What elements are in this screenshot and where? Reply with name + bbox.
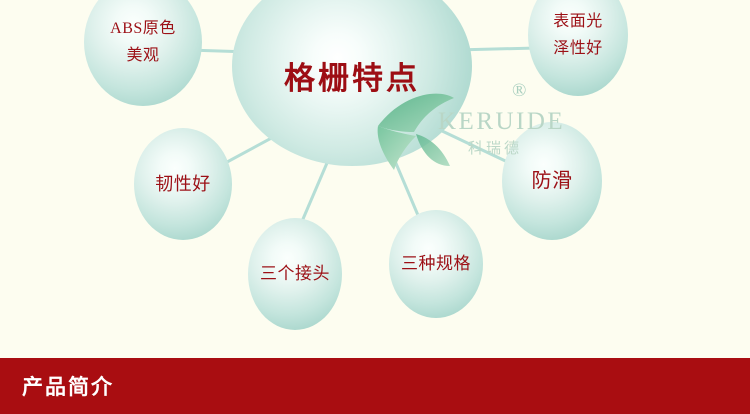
node-label-three-specs: 三种规格 — [401, 253, 471, 276]
mind-map-diagram: 格栅特点 ABS原色 美观 表面光 泽性好 韧性好 防滑 三个接头 三种规格 — [0, 0, 750, 358]
node-label-abs: ABS原色 美观 — [110, 18, 176, 66]
brand-chinese-text: 科瑞德 — [468, 137, 522, 158]
node-bubble-three-joints[interactable]: 三个接头 — [248, 218, 342, 330]
brand-latin-text: KERUIDE — [438, 108, 565, 136]
node-label-toughness: 韧性好 — [155, 172, 211, 196]
product-feature-infographic: 格栅特点 ABS原色 美观 表面光 泽性好 韧性好 防滑 三个接头 三种规格 — [0, 0, 750, 414]
section-banner: 产品简介 — [0, 358, 750, 414]
center-node-label: 格栅特点 — [284, 31, 420, 101]
node-label-antislip: 防滑 — [532, 168, 573, 195]
node-label-surface-line2: 泽性好 — [553, 38, 603, 60]
node-label-surface-line1: 表面光 — [553, 13, 603, 30]
node-label-three-joints: 三个接头 — [260, 263, 330, 286]
node-label-surface: 表面光 泽性好 — [553, 11, 603, 59]
node-label-abs-line2: 美观 — [110, 45, 176, 67]
node-bubble-three-specs[interactable]: 三种规格 — [389, 210, 483, 318]
connector-center-specs — [392, 154, 420, 220]
connector-center-joints — [300, 156, 330, 226]
registered-trademark-icon: ® — [512, 80, 526, 102]
section-banner-title: 产品简介 — [22, 371, 114, 401]
node-bubble-toughness[interactable]: 韧性好 — [134, 128, 232, 240]
node-label-abs-line1: ABS原色 — [110, 20, 176, 37]
